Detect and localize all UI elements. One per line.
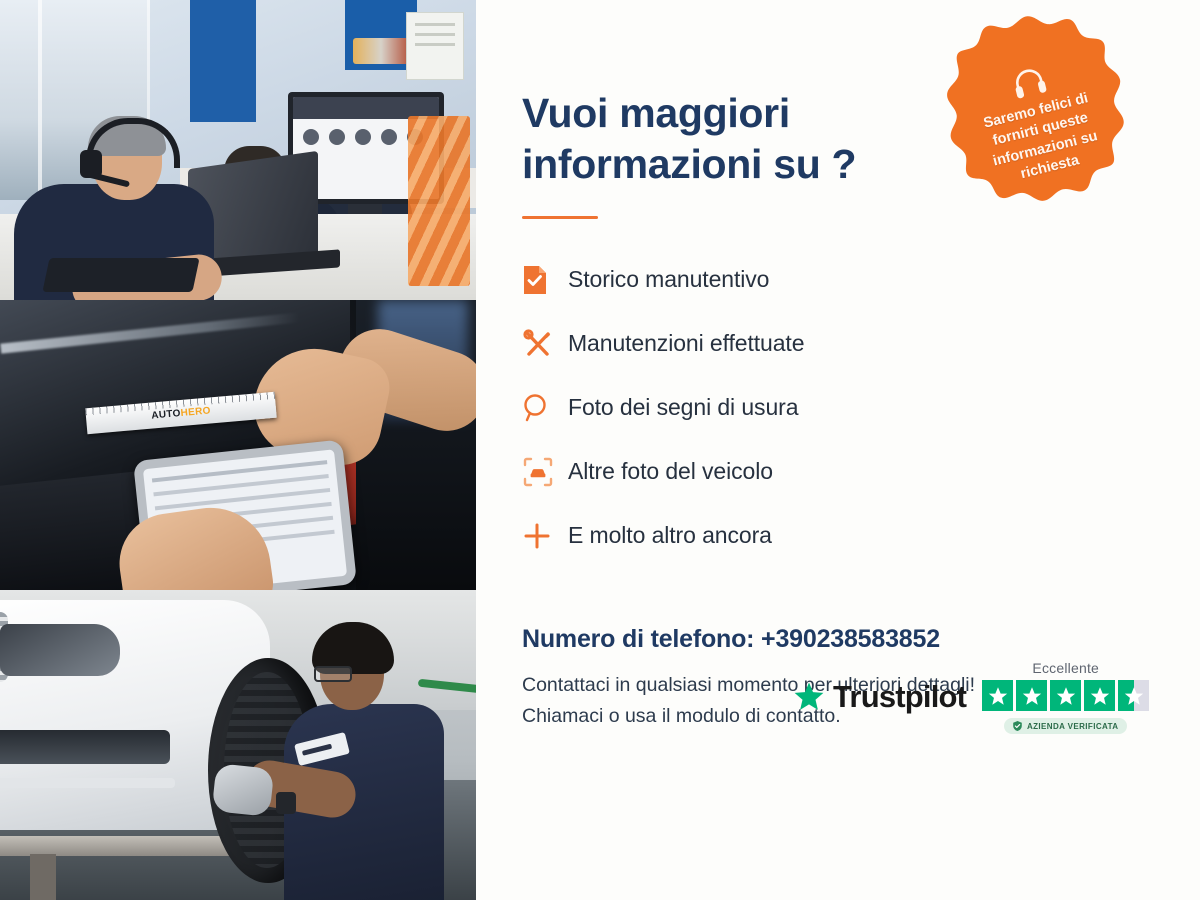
- trustpilot-stars: [982, 680, 1149, 711]
- shield-check-icon: [1013, 721, 1022, 731]
- orange-equipment: [408, 116, 470, 286]
- feature-label: Foto dei segni di usura: [568, 394, 798, 421]
- car-viewfinder-icon: [522, 456, 568, 488]
- star-filled: [982, 680, 1013, 711]
- verified-business-badge: AZIENDA VERIFICATA: [1004, 718, 1128, 734]
- tools-cross-icon: [522, 328, 568, 360]
- promo-page: AUTOHERO: [0, 0, 1200, 900]
- desk-tablet: [42, 258, 199, 292]
- trustpilot-logo: Trustpilot: [792, 679, 966, 715]
- ruler-logo-hero: HERO: [180, 405, 211, 419]
- vehicle-lift-platform: [0, 836, 240, 856]
- trustpilot-widget[interactable]: Trustpilot Eccellente: [792, 660, 1149, 734]
- car-bumper-line: [0, 778, 175, 788]
- photo-column: AUTOHERO: [0, 0, 476, 900]
- content-panel: Vuoi maggiori informazioni su ? Saremo f…: [476, 0, 1200, 900]
- feature-label: Altre foto del veicolo: [568, 458, 773, 485]
- feature-label: E molto altro ancora: [568, 522, 772, 549]
- callout-badge: Saremo felici di fornirti queste informa…: [930, 4, 1141, 215]
- page-title: Vuoi maggiori informazioni su ?: [522, 88, 952, 190]
- plus-icon: [522, 521, 568, 551]
- feature-item-foto-usura: Foto dei segni di usura: [522, 381, 1148, 435]
- star-half: [1118, 680, 1149, 711]
- vehicle-inspection-photo: AUTOHERO: [0, 300, 476, 590]
- ruler-logo-auto: AUTO: [151, 408, 181, 422]
- headline-line-2: informazioni su ?: [522, 141, 856, 187]
- phone-number-line[interactable]: Numero di telefono: +390238583852: [522, 625, 1148, 654]
- headline-line-1: Vuoi maggiori: [522, 90, 790, 136]
- star-filled: [1084, 680, 1115, 711]
- feature-item-manutenzioni: Manutenzioni effettuate: [522, 317, 1148, 371]
- accent-divider: [522, 216, 598, 219]
- feature-item-storico: Storico manutentivo: [522, 253, 1148, 307]
- headset-icon: [1008, 63, 1049, 102]
- badge-text: Saremo felici di fornirti queste informa…: [966, 85, 1121, 194]
- vehicle-lift-leg: [30, 854, 56, 900]
- call-center-photo: [0, 0, 476, 300]
- feature-label: Storico manutentivo: [568, 266, 769, 293]
- feature-list: Storico manutentivo Manutenzioni effettu…: [522, 253, 1148, 563]
- trustpilot-star-icon: [792, 680, 826, 714]
- feature-label: Manutenzioni effettuate: [568, 330, 804, 357]
- verified-business-text: AZIENDA VERIFICATA: [1027, 722, 1119, 731]
- star-filled: [1050, 680, 1081, 711]
- mechanic-glove: [212, 763, 275, 817]
- car-lower-grille: [0, 730, 170, 764]
- trustpilot-rating-label: Eccellente: [1032, 660, 1099, 676]
- magnifier-icon: [522, 393, 568, 423]
- mechanic-glasses: [314, 666, 352, 682]
- mechanic: [272, 626, 452, 900]
- mechanic-watch: [276, 792, 296, 814]
- trustpilot-wordmark: Trustpilot: [833, 679, 966, 715]
- feature-item-altro: E molto altro ancora: [522, 509, 1148, 563]
- feature-item-altre-foto: Altre foto del veicolo: [522, 445, 1148, 499]
- car-headlight: [0, 624, 120, 676]
- star-filled: [1016, 680, 1047, 711]
- wall-document: [406, 12, 464, 80]
- autohero-ruler-logo: AUTOHERO: [151, 405, 211, 421]
- blue-wall-panel: [190, 0, 256, 122]
- trustpilot-rating: Eccellente: [982, 660, 1149, 734]
- wheel-service-photo: [0, 590, 476, 900]
- document-check-icon: [522, 264, 568, 296]
